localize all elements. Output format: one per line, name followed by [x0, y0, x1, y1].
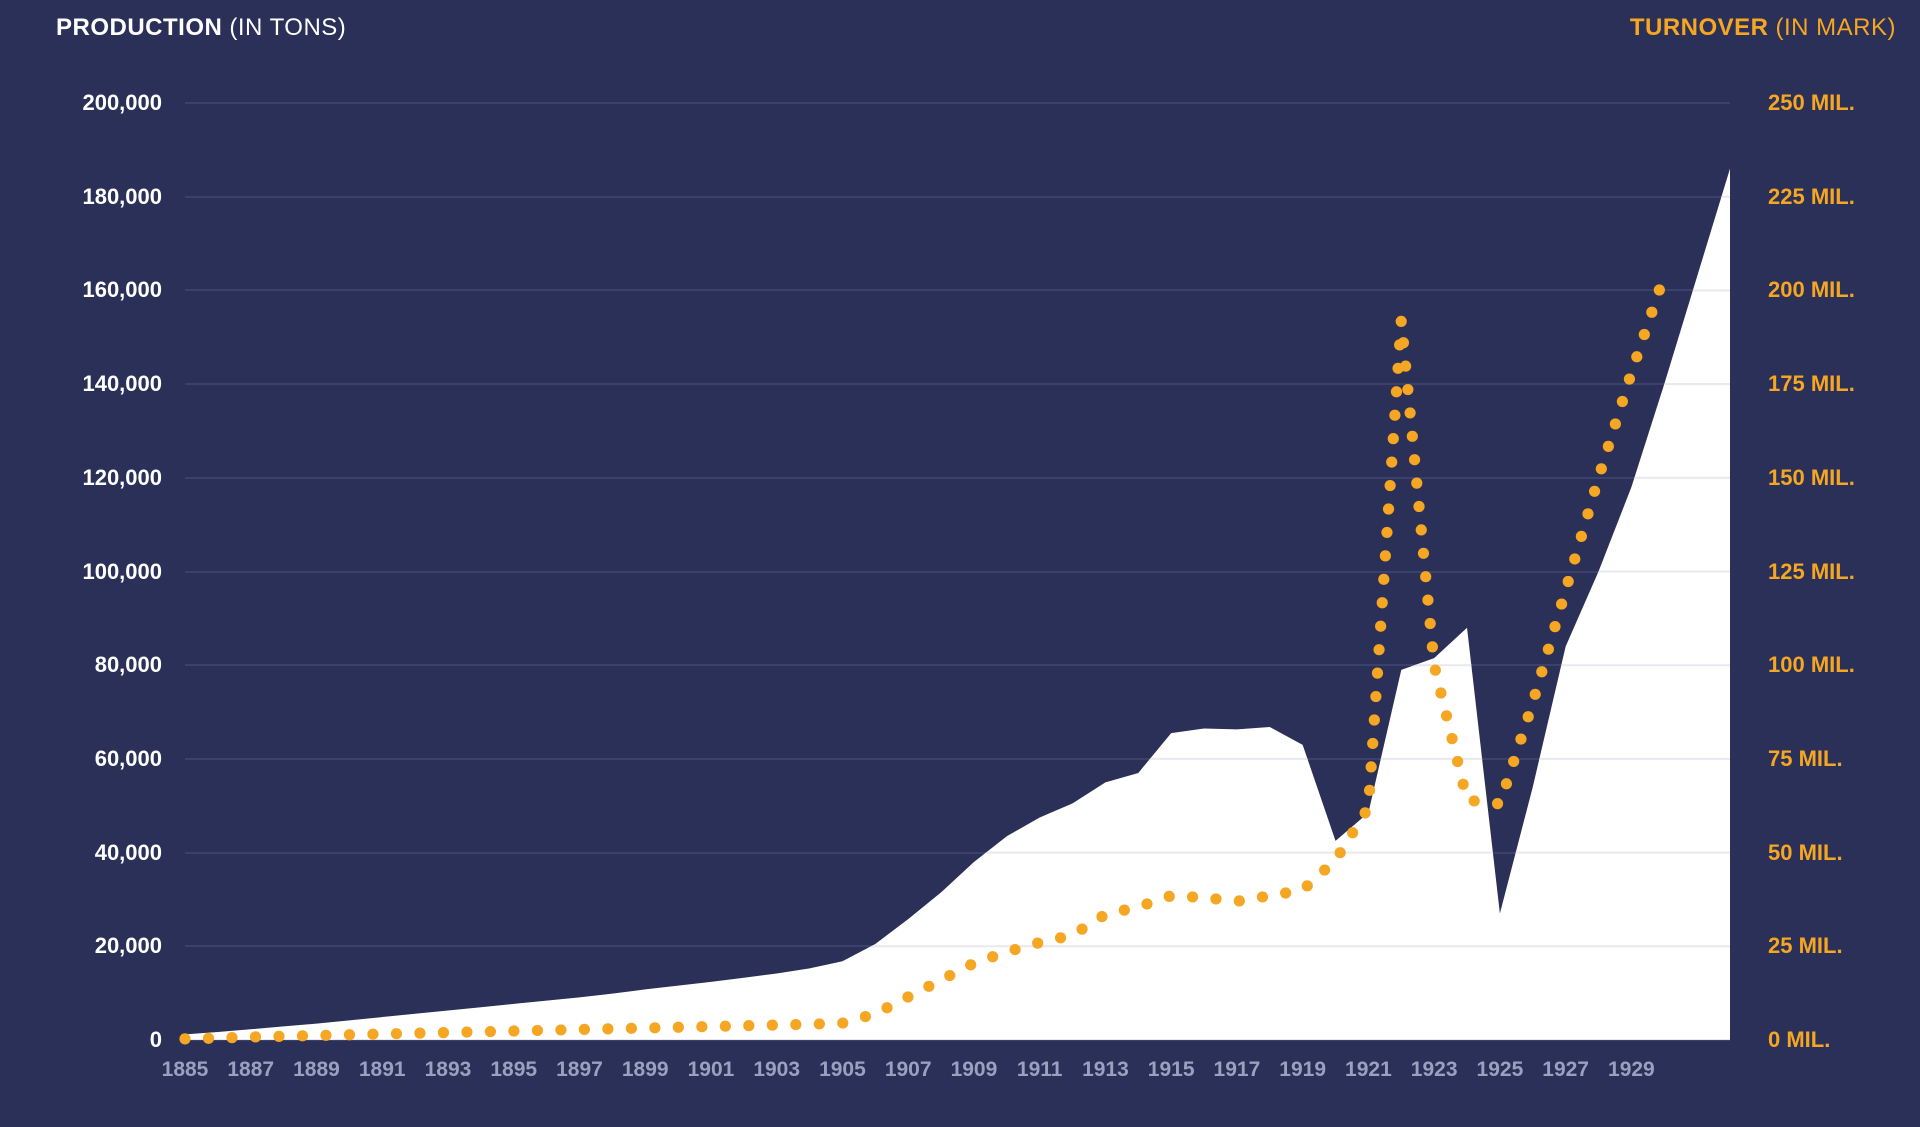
- turnover-dot: [1646, 307, 1657, 318]
- x-tick-label: 1891: [359, 1058, 406, 1082]
- x-tick-label: 1907: [885, 1058, 932, 1082]
- turnover-dot: [1427, 641, 1438, 652]
- turnover-dot: [1576, 531, 1587, 542]
- turnover-dot: [250, 1031, 261, 1042]
- turnover-dot: [1543, 644, 1554, 655]
- production-title-unit: (IN TONS): [229, 14, 346, 42]
- y-tick-left: 140,000: [82, 371, 162, 397]
- turnover-dot: [1492, 798, 1503, 809]
- turnover-dot: [1501, 778, 1512, 789]
- turnover-dot: [1141, 898, 1152, 909]
- turnover-dot: [1556, 598, 1567, 609]
- y-tick-right: 225 MIL.: [1768, 184, 1855, 210]
- x-tick-label: 1899: [622, 1058, 669, 1082]
- turnover-dot: [767, 1020, 778, 1031]
- turnover-axis-title: TURNOVER (IN MARK): [1630, 8, 1896, 48]
- turnover-dot: [203, 1033, 214, 1044]
- turnover-dot: [1347, 827, 1358, 838]
- gridline-over-area: [185, 383, 1730, 385]
- turnover-dot: [1280, 887, 1291, 898]
- turnover-dot: [1452, 756, 1463, 767]
- x-tick-label: 1895: [490, 1058, 537, 1082]
- turnover-dot: [438, 1027, 449, 1038]
- turnover-dot: [1446, 733, 1457, 744]
- y-axis-left-labels: 020,00040,00060,00080,000100,000120,0001…: [0, 103, 162, 1040]
- x-tick-label: 1897: [556, 1058, 603, 1082]
- production-area: [185, 169, 1730, 1040]
- y-tick-left: 40,000: [95, 840, 162, 866]
- turnover-dot: [1302, 880, 1313, 891]
- x-tick-label: 1917: [1214, 1058, 1261, 1082]
- y-tick-right: 150 MIL.: [1768, 465, 1855, 491]
- turnover-dot: [1398, 337, 1409, 348]
- turnover-dot: [461, 1026, 472, 1037]
- x-axis-labels: 1885188718891891189318951897189919011903…: [185, 1058, 1730, 1098]
- turnover-dot: [881, 1002, 892, 1013]
- x-tick-label: 1905: [819, 1058, 866, 1082]
- turnover-dot: [1367, 738, 1378, 749]
- y-axis-right-labels: 0 MIL.25 MIL.50 MIL.75 MIL.100 MIL.125 M…: [1768, 103, 1918, 1040]
- x-tick-label: 1925: [1477, 1058, 1524, 1082]
- turnover-dot: [1009, 944, 1020, 955]
- y-tick-left: 20,000: [95, 933, 162, 959]
- turnover-dot: [1654, 284, 1665, 295]
- x-tick-label: 1923: [1411, 1058, 1458, 1082]
- chart-canvas: PRODUCTION (IN TONS) TURNOVER (IN MARK) …: [0, 0, 1920, 1127]
- turnover-dot: [391, 1028, 402, 1039]
- turnover-dot: [1373, 644, 1384, 655]
- turnover-dot: [1405, 407, 1416, 418]
- turnover-dot: [1624, 373, 1635, 384]
- turnover-dot: [344, 1029, 355, 1040]
- turnover-dot: [1563, 576, 1574, 587]
- turnover-dot: [1076, 924, 1087, 935]
- x-tick-label: 1903: [753, 1058, 800, 1082]
- gridline-over-area: [185, 477, 1730, 479]
- turnover-dot: [1375, 621, 1386, 632]
- turnover-dot: [1631, 351, 1642, 362]
- gridline-over-area: [185, 196, 1730, 198]
- plot-area: [185, 103, 1730, 1040]
- turnover-dot: [1370, 691, 1381, 702]
- x-tick-label: 1885: [162, 1058, 209, 1082]
- turnover-dot: [1360, 807, 1371, 818]
- turnover-dot: [1386, 456, 1397, 467]
- turnover-dot: [743, 1020, 754, 1031]
- x-tick-label: 1887: [227, 1058, 274, 1082]
- turnover-dot: [367, 1029, 378, 1040]
- turnover-dot: [987, 951, 998, 962]
- turnover-dot: [1407, 431, 1418, 442]
- turnover-dot: [1441, 710, 1452, 721]
- x-tick-label: 1927: [1542, 1058, 1589, 1082]
- turnover-dot: [1369, 714, 1380, 725]
- turnover-dot: [1418, 548, 1429, 559]
- turnover-dot: [1530, 689, 1541, 700]
- y-tick-right: 100 MIL.: [1768, 652, 1855, 678]
- turnover-dot: [1383, 503, 1394, 514]
- turnover-dot: [944, 970, 955, 981]
- y-tick-left: 0: [150, 1027, 162, 1053]
- turnover-dot: [814, 1018, 825, 1029]
- y-tick-right: 125 MIL.: [1768, 559, 1855, 585]
- turnover-dot: [1388, 433, 1399, 444]
- turnover-dot: [1391, 386, 1402, 397]
- turnover-dot: [1380, 550, 1391, 561]
- turnover-dot: [720, 1021, 731, 1032]
- gridline-over-area: [185, 102, 1730, 104]
- turnover-dot: [1469, 795, 1480, 806]
- turnover-dot: [1416, 524, 1427, 535]
- turnover-dot: [673, 1022, 684, 1033]
- turnover-dot: [1381, 527, 1392, 538]
- turnover-dot: [1515, 733, 1526, 744]
- turnover-dot: [226, 1032, 237, 1043]
- x-tick-label: 1909: [951, 1058, 998, 1082]
- turnover-dot: [1389, 410, 1400, 421]
- x-tick-label: 1901: [688, 1058, 735, 1082]
- turnover-dot: [1411, 478, 1422, 489]
- y-tick-right: 25 MIL.: [1768, 933, 1843, 959]
- turnover-dot: [1582, 508, 1593, 519]
- turnover-dot: [790, 1019, 801, 1030]
- production-title-bold: PRODUCTION: [56, 14, 222, 42]
- turnover-dot: [649, 1022, 660, 1033]
- y-tick-left: 120,000: [82, 465, 162, 491]
- turnover-dot: [1589, 486, 1600, 497]
- x-tick-label: 1889: [293, 1058, 340, 1082]
- x-tick-label: 1915: [1148, 1058, 1195, 1082]
- y-tick-left: 80,000: [95, 652, 162, 678]
- x-tick-label: 1911: [1017, 1058, 1063, 1082]
- turnover-dot: [579, 1024, 590, 1035]
- turnover-dot: [273, 1031, 284, 1042]
- turnover-dot: [297, 1030, 308, 1041]
- turnover-dot: [1549, 621, 1560, 632]
- turnover-dot: [532, 1025, 543, 1036]
- turnover-dot: [860, 1011, 871, 1022]
- turnover-dot: [414, 1028, 425, 1039]
- turnover-dot: [508, 1025, 519, 1036]
- turnover-dot: [1425, 618, 1436, 629]
- turnover-dot: [696, 1021, 707, 1032]
- turnover-dot: [1335, 847, 1346, 858]
- turnover-dot: [1385, 480, 1396, 491]
- turnover-dot: [965, 959, 976, 970]
- turnover-dot: [1639, 329, 1650, 340]
- gridline-over-area: [185, 852, 1730, 854]
- y-tick-right: 250 MIL.: [1768, 90, 1855, 116]
- turnover-dot: [1319, 864, 1330, 875]
- turnover-dot: [1603, 441, 1614, 452]
- y-tick-left: 100,000: [82, 559, 162, 585]
- y-tick-left: 180,000: [82, 184, 162, 210]
- y-tick-left: 160,000: [82, 277, 162, 303]
- turnover-dot: [1508, 756, 1519, 767]
- turnover-dot: [1119, 905, 1130, 916]
- turnover-dot: [1378, 574, 1389, 585]
- turnover-dot: [1187, 891, 1198, 902]
- gridline-over-area: [185, 945, 1730, 947]
- turnover-dot: [923, 981, 934, 992]
- gridline-over-area: [185, 289, 1730, 291]
- x-tick-label: 1919: [1279, 1058, 1326, 1082]
- turnover-dot: [1396, 316, 1407, 327]
- turnover-dot: [1032, 938, 1043, 949]
- y-tick-right: 50 MIL.: [1768, 840, 1843, 866]
- x-tick-label: 1913: [1082, 1058, 1129, 1082]
- turnover-dot: [837, 1017, 848, 1028]
- turnover-dot: [1402, 384, 1413, 395]
- x-tick-label: 1893: [425, 1058, 472, 1082]
- turnover-dot: [602, 1023, 613, 1034]
- x-tick-label: 1921: [1345, 1058, 1392, 1082]
- turnover-dot: [1400, 361, 1411, 372]
- turnover-dot: [1234, 895, 1245, 906]
- turnover-dot: [1096, 911, 1107, 922]
- turnover-dot: [1409, 454, 1420, 465]
- turnover-dot: [1377, 597, 1388, 608]
- turnover-dot: [1257, 891, 1268, 902]
- y-tick-left: 200,000: [82, 90, 162, 116]
- turnover-dot: [1596, 463, 1607, 474]
- turnover-dot: [1164, 891, 1175, 902]
- turnover-dot: [1458, 779, 1469, 790]
- gridline-over-area: [185, 664, 1730, 666]
- turnover-dot: [320, 1030, 331, 1041]
- gridline-over-area: [185, 758, 1730, 760]
- turnover-title-bold: TURNOVER: [1630, 14, 1769, 42]
- turnover-dot: [1435, 687, 1446, 698]
- turnover-dot: [1617, 396, 1628, 407]
- x-tick-label: 1929: [1608, 1058, 1655, 1082]
- y-tick-right: 75 MIL.: [1768, 746, 1843, 772]
- turnover-dot: [1210, 893, 1221, 904]
- turnover-dot: [1422, 594, 1433, 605]
- turnover-dot: [555, 1024, 566, 1035]
- turnover-dot: [1055, 932, 1066, 943]
- y-tick-right: 175 MIL.: [1768, 371, 1855, 397]
- series-layer: [185, 103, 1730, 1040]
- turnover-title-unit: (IN MARK): [1776, 14, 1897, 42]
- turnover-dot: [179, 1033, 190, 1044]
- turnover-dot: [1430, 665, 1441, 676]
- production-axis-title: PRODUCTION (IN TONS): [56, 8, 346, 48]
- turnover-dot: [626, 1023, 637, 1034]
- gridline-over-area: [185, 571, 1730, 573]
- turnover-dot: [1569, 553, 1580, 564]
- turnover-dot: [1610, 418, 1621, 429]
- y-tick-left: 60,000: [95, 746, 162, 772]
- turnover-dot: [1364, 785, 1375, 796]
- y-tick-right: 200 MIL.: [1768, 277, 1855, 303]
- turnover-dot: [1366, 761, 1377, 772]
- y-tick-right: 0 MIL.: [1768, 1027, 1830, 1053]
- turnover-dot: [1372, 668, 1383, 679]
- turnover-dot: [485, 1026, 496, 1037]
- turnover-dot: [1536, 666, 1547, 677]
- turnover-dot: [1523, 711, 1534, 722]
- turnover-dot: [902, 991, 913, 1002]
- turnover-dot: [1420, 571, 1431, 582]
- turnover-dot: [1413, 501, 1424, 512]
- chart-svg: [185, 103, 1730, 1040]
